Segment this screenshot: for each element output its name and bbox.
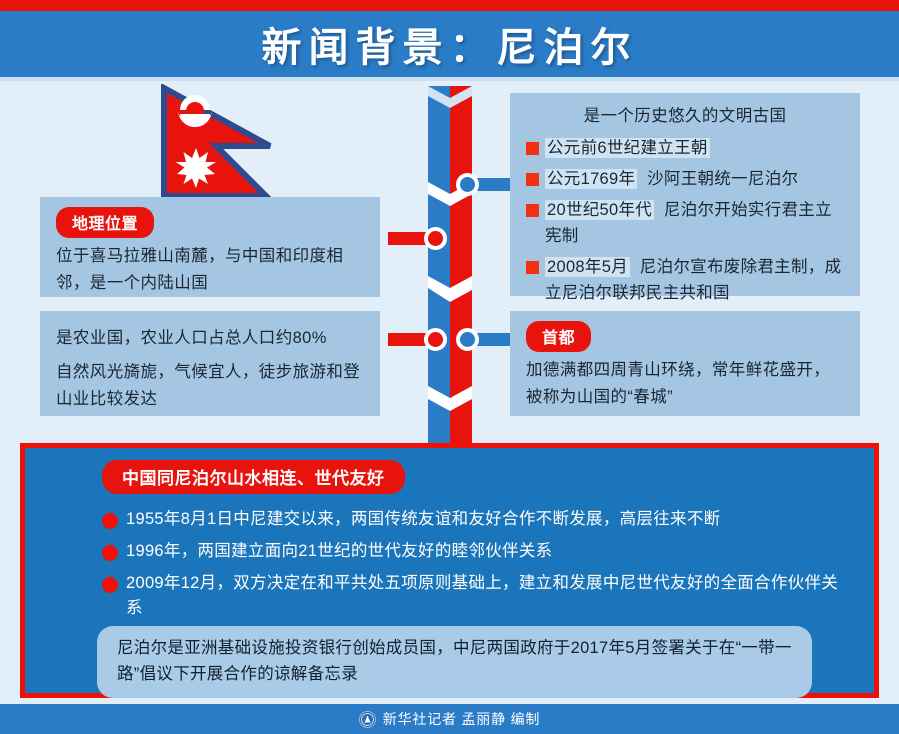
history-item: 公元1769年 沙阿王朝统一尼泊尔 (526, 166, 844, 192)
geography-card: 地理位置 位于喜马拉雅山南麓，与中国和印度相邻，是一个内陆山国 (40, 197, 380, 297)
agriculture-card: 是农业国，农业人口占总人口约80% 自然风光旖旎，气候宜人，徒步旅游和登山业比较… (40, 311, 380, 416)
history-item-text: 20世纪50年代 尼泊尔开始实行君主立宪制 (545, 197, 844, 249)
relations-item-text: 2009年12月，双方决定在和平共处五项原则基础上，建立和发展中尼世代友好的全面… (126, 571, 842, 621)
central-spine (422, 86, 480, 448)
spine-svg (422, 86, 480, 448)
relations-panel: 中国同尼泊尔山水相连、世代友好 1955年8月1日中尼建交以来，两国传统友谊和友… (20, 443, 879, 698)
dot-bullet-icon (102, 545, 118, 561)
relations-item: 1996年，两国建立面向21世纪的世代友好的睦邻伙伴关系 (102, 539, 842, 564)
history-intro: 是一个历史悠久的文明古国 (526, 103, 844, 130)
capital-card: 首都 加德满都四周青山环绕，常年鲜花盛开，被称为山国的“春城” (510, 311, 860, 416)
connector-node-geography (424, 227, 447, 250)
agriculture-line2: 自然风光旖旎，气候宜人，徒步旅游和登山业比较发达 (56, 359, 364, 413)
square-bullet-icon (526, 173, 539, 186)
dot-bullet-icon (102, 513, 118, 529)
connector-node-agriculture (424, 328, 447, 351)
relations-item-text: 1996年，两国建立面向21世纪的世代友好的睦邻伙伴关系 (126, 539, 552, 564)
connector-node-capital (456, 328, 479, 351)
relations-item: 2009年12月，双方决定在和平共处五项原则基础上，建立和发展中尼世代友好的全面… (102, 571, 842, 621)
capital-label: 首都 (526, 321, 591, 352)
history-item-date: 20世纪50年代 (545, 200, 654, 220)
nepal-flag (158, 84, 280, 204)
history-item: 公元前6世纪建立王朝 (526, 135, 844, 161)
agriculture-line1: 是农业国，农业人口占总人口约80% (56, 325, 364, 352)
xinhua-logo-icon (359, 711, 376, 728)
history-item-date: 2008年5月 (545, 257, 630, 277)
geography-text: 位于喜马拉雅山南麓，与中国和印度相邻，是一个内陆山国 (56, 243, 364, 297)
history-item-date: 公元1769年 (545, 169, 637, 189)
square-bullet-icon (526, 142, 539, 155)
square-bullet-icon (526, 261, 539, 274)
infographic-page: 新闻背景：尼泊尔 (0, 0, 899, 734)
footer-bar: 新华社记者 孟丽静 编制 (0, 704, 899, 734)
connector-node-history (456, 173, 479, 196)
header-underline (0, 77, 899, 81)
relations-note-box: 尼泊尔是亚洲基础设施投资银行创始成员国，中尼两国政府于2017年5月签署关于在“… (97, 626, 812, 698)
relations-item-text: 1955年8月1日中尼建交以来，两国传统友谊和友好合作不断发展，高层往来不断 (126, 507, 720, 532)
history-item: 2008年5月 尼泊尔宣布废除君主制，成立尼泊尔联邦民主共和国 (526, 254, 844, 306)
history-item-rest: 沙阿王朝统一尼泊尔 (647, 170, 798, 188)
history-item: 20世纪50年代 尼泊尔开始实行君主立宪制 (526, 197, 844, 249)
relations-note-text: 尼泊尔是亚洲基础设施投资银行创始成员国，中尼两国政府于2017年5月签署关于在“… (117, 635, 792, 687)
top-red-stripe (0, 0, 899, 11)
page-title: 新闻背景：尼泊尔 (262, 15, 638, 73)
nepal-flag-svg (158, 84, 280, 204)
history-item-text: 公元1769年 沙阿王朝统一尼泊尔 (545, 166, 798, 192)
xinhua-mark (361, 713, 374, 726)
geography-label: 地理位置 (56, 207, 154, 238)
history-item-date: 公元前6世纪建立王朝 (545, 138, 710, 158)
capital-text: 加德满都四周青山环绕，常年鲜花盛开，被称为山国的“春城” (526, 357, 844, 411)
square-bullet-icon (526, 204, 539, 217)
history-item-text: 2008年5月 尼泊尔宣布废除君主制，成立尼泊尔联邦民主共和国 (545, 254, 844, 306)
relations-label: 中国同尼泊尔山水相连、世代友好 (102, 460, 405, 494)
history-item-text: 公元前6世纪建立王朝 (545, 135, 710, 161)
footer-credit: 新华社记者 孟丽静 编制 (383, 709, 540, 729)
relations-item: 1955年8月1日中尼建交以来，两国传统友谊和友好合作不断发展，高层往来不断 (102, 507, 842, 532)
history-card: 是一个历史悠久的文明古国 公元前6世纪建立王朝 公元1769年 沙阿王朝统一尼泊… (510, 93, 860, 296)
dot-bullet-icon (102, 577, 118, 593)
header-band: 新闻背景：尼泊尔 (0, 11, 899, 77)
